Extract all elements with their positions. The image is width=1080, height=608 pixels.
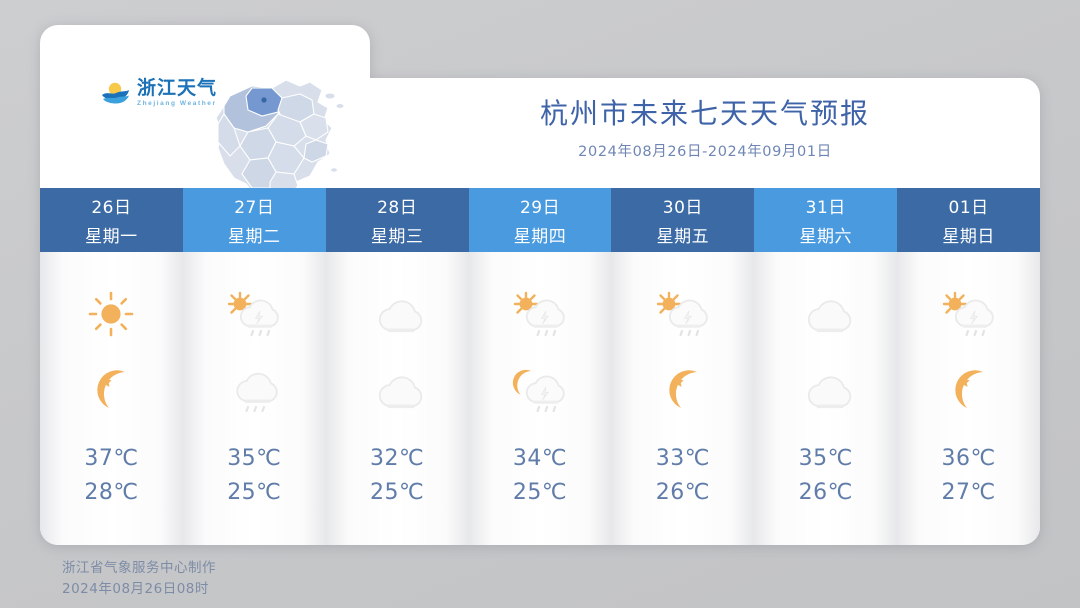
forecast-column-1[interactable]: 37℃28℃ bbox=[40, 252, 183, 545]
temperature-block: 35℃25℃ bbox=[227, 442, 281, 510]
forecast-column-3[interactable]: 32℃25℃ bbox=[326, 252, 469, 545]
temperature-high: 35℃ bbox=[799, 442, 853, 476]
sun-thundershower-icon bbox=[219, 288, 289, 340]
sun-wave-logo-icon bbox=[100, 78, 130, 108]
day-date-label: 01日 bbox=[949, 193, 989, 218]
day-weekday-label: 星期一 bbox=[85, 222, 138, 247]
page-title: 杭州市未来七天天气预报 bbox=[370, 97, 1040, 131]
title-block: 杭州市未来七天天气预报 2024年08月26日-2024年09月01日 bbox=[370, 97, 1040, 161]
sun-thundershower-icon bbox=[505, 288, 575, 340]
day-date-label: 27日 bbox=[234, 193, 274, 218]
temperature-block: 32℃25℃ bbox=[370, 442, 424, 510]
temperature-high: 37℃ bbox=[84, 442, 138, 476]
temperature-low: 25℃ bbox=[513, 476, 567, 510]
forecast-column-5[interactable]: 33℃26℃ bbox=[611, 252, 754, 545]
date-range-label: 2024年08月26日-2024年09月01日 bbox=[370, 140, 1040, 161]
forecast-column-7[interactable]: 36℃27℃ bbox=[897, 252, 1040, 545]
temperature-high: 35℃ bbox=[227, 442, 281, 476]
day-weekday-label: 星期六 bbox=[799, 222, 852, 247]
day-weekday-label: 星期三 bbox=[371, 222, 424, 247]
clear-night-icon bbox=[76, 364, 146, 416]
day-header-5[interactable]: 30日星期五 bbox=[611, 188, 754, 252]
day-weekday-label: 星期四 bbox=[514, 222, 567, 247]
forecast-column-6[interactable]: 35℃26℃ bbox=[754, 252, 897, 545]
temperature-high: 36℃ bbox=[941, 442, 995, 476]
day-header-2[interactable]: 27日星期二 bbox=[183, 188, 326, 252]
day-header-4[interactable]: 29日星期四 bbox=[469, 188, 612, 252]
day-date-label: 30日 bbox=[663, 193, 703, 218]
overcast-icon bbox=[362, 364, 432, 416]
temperature-block: 33℃26℃ bbox=[656, 442, 710, 510]
day-weekday-label: 星期日 bbox=[942, 222, 995, 247]
forecast-column-2[interactable]: 35℃25℃ bbox=[183, 252, 326, 545]
moon-thundershower-icon bbox=[505, 364, 575, 416]
day-weekday-label: 星期五 bbox=[657, 222, 710, 247]
clear-night-icon bbox=[648, 364, 718, 416]
footer-credit: 浙江省气象服务中心制作 2024年08月26日08时 bbox=[62, 558, 216, 600]
temperature-low: 25℃ bbox=[227, 476, 281, 510]
temperature-low: 28℃ bbox=[84, 476, 138, 510]
day-header-6[interactable]: 31日星期六 bbox=[754, 188, 897, 252]
temperature-block: 36℃27℃ bbox=[941, 442, 995, 510]
overcast-icon bbox=[791, 364, 861, 416]
day-date-label: 26日 bbox=[91, 193, 131, 218]
temperature-low: 26℃ bbox=[799, 476, 853, 510]
temperature-low: 25℃ bbox=[370, 476, 424, 510]
day-header-7[interactable]: 01日星期日 bbox=[897, 188, 1040, 252]
overcast-icon bbox=[362, 288, 432, 340]
day-date-label: 29日 bbox=[520, 193, 560, 218]
day-header-row: 26日星期一27日星期二28日星期三29日星期四30日星期五31日星期六01日星… bbox=[40, 188, 1040, 252]
temperature-low: 27℃ bbox=[941, 476, 995, 510]
day-date-label: 31日 bbox=[806, 193, 846, 218]
temperature-high: 34℃ bbox=[513, 442, 567, 476]
overcast-icon bbox=[791, 288, 861, 340]
temperature-block: 35℃26℃ bbox=[799, 442, 853, 510]
forecast-card: 浙江天气 Zhejiang Weather bbox=[40, 25, 1040, 545]
day-header-1[interactable]: 26日星期一 bbox=[40, 188, 183, 252]
temperature-block: 37℃28℃ bbox=[84, 442, 138, 510]
sun-thundershower-icon bbox=[934, 288, 1004, 340]
sun-thundershower-icon bbox=[648, 288, 718, 340]
clear-night-icon bbox=[934, 364, 1004, 416]
day-header-3[interactable]: 28日星期三 bbox=[326, 188, 469, 252]
shower-icon bbox=[219, 364, 289, 416]
footer-issue-time: 2024年08月26日08时 bbox=[62, 579, 216, 600]
forecast-columns: 37℃28℃ bbox=[40, 252, 1040, 545]
day-date-label: 28日 bbox=[377, 193, 417, 218]
temperature-high: 33℃ bbox=[656, 442, 710, 476]
footer-producer: 浙江省气象服务中心制作 bbox=[62, 558, 216, 579]
temperature-high: 32℃ bbox=[370, 442, 424, 476]
forecast-column-4[interactable]: 34℃25℃ bbox=[469, 252, 612, 545]
temperature-low: 26℃ bbox=[656, 476, 710, 510]
sunny-icon bbox=[76, 288, 146, 340]
day-weekday-label: 星期二 bbox=[228, 222, 281, 247]
temperature-block: 34℃25℃ bbox=[513, 442, 567, 510]
